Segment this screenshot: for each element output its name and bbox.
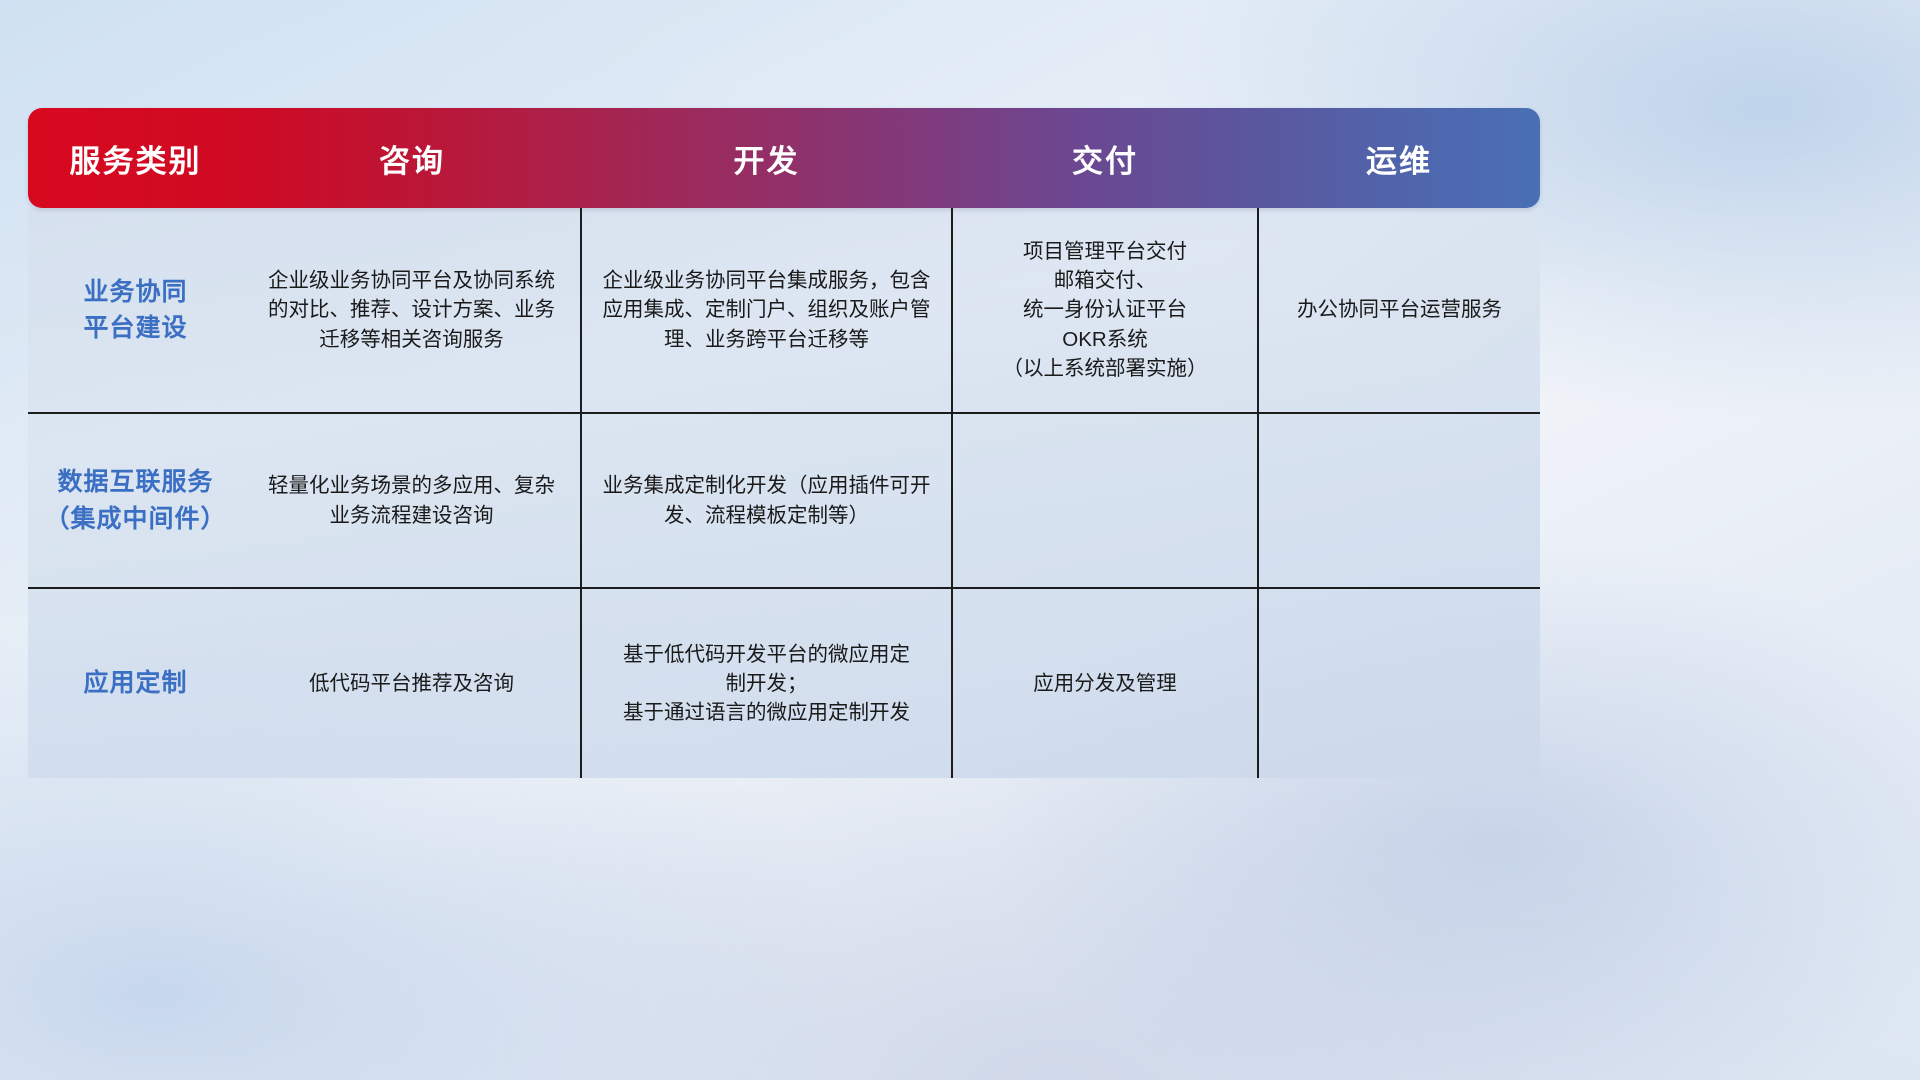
row-category-label: 业务协同 平台建设: [28, 208, 243, 413]
row-category-label: 数据互联服务 （集成中间件）: [28, 413, 243, 588]
cell-consulting: 企业级业务协同平台及协同系统的对比、推荐、设计方案、业务迁移等相关咨询服务: [243, 208, 581, 413]
cell-delivery: [952, 413, 1258, 588]
row-category-label: 应用定制: [28, 588, 243, 778]
cell-delivery-line: （以上系统部署实施）: [969, 354, 1241, 383]
cell-development-line: 制开发；: [598, 669, 935, 698]
cell-delivery-line: OKR系统: [969, 325, 1241, 354]
column-header-operations-label: 运维: [1258, 136, 1540, 181]
cell-development-line: 基于通过语言的微应用定制开发: [598, 698, 935, 727]
row-category-line: 应用定制: [44, 665, 227, 701]
service-category-table: 服务类别 咨询 开发 交付 运维 业务协同: [28, 108, 1540, 778]
cell-delivery-line: 邮箱交付、: [969, 266, 1241, 295]
cell-development: 业务集成定制化开发（应用插件可开发、流程模板定制等）: [581, 413, 952, 588]
row-category-line: 业务协同: [44, 274, 227, 310]
column-header-consulting: 咨询: [243, 108, 581, 208]
cell-operations: [1258, 413, 1540, 588]
table-body: 业务协同 平台建设 企业级业务协同平台及协同系统的对比、推荐、设计方案、业务迁移…: [28, 208, 1540, 778]
cell-development: 企业级业务协同平台集成服务，包含应用集成、定制门户、组织及账户管理、业务跨平台迁…: [581, 208, 952, 413]
row-category-line: （集成中间件）: [44, 501, 227, 537]
table-header: 服务类别 咨询 开发 交付 运维: [28, 108, 1540, 208]
cell-development: 基于低代码开发平台的微应用定 制开发； 基于通过语言的微应用定制开发: [581, 588, 952, 778]
table-row: 数据互联服务 （集成中间件） 轻量化业务场景的多应用、复杂业务流程建设咨询 业务…: [28, 413, 1540, 588]
cell-delivery: 项目管理平台交付 邮箱交付、 统一身份认证平台 OKR系统 （以上系统部署实施）: [952, 208, 1258, 413]
cell-consulting: 低代码平台推荐及咨询: [243, 588, 581, 778]
column-header-development-label: 开发: [581, 136, 952, 181]
cell-consulting: 轻量化业务场景的多应用、复杂业务流程建设咨询: [243, 413, 581, 588]
cell-operations: 办公协同平台运营服务: [1258, 208, 1540, 413]
column-header-consulting-label: 咨询: [243, 136, 581, 181]
cell-delivery-line: 统一身份认证平台: [969, 295, 1241, 324]
cell-operations: [1258, 588, 1540, 778]
row-category-line: 数据互联服务: [44, 464, 227, 500]
column-header-delivery: 交付: [952, 108, 1258, 208]
column-header-category: 服务类别: [28, 108, 243, 208]
cell-delivery: 应用分发及管理: [952, 588, 1258, 778]
table-row: 应用定制 低代码平台推荐及咨询 基于低代码开发平台的微应用定 制开发； 基于通过…: [28, 588, 1540, 778]
cell-delivery-line: 项目管理平台交付: [969, 237, 1241, 266]
row-category-line: 平台建设: [44, 310, 227, 346]
cell-development-line: 基于低代码开发平台的微应用定: [598, 640, 935, 669]
column-header-operations: 运维: [1258, 108, 1540, 208]
column-header-category-label: 服务类别: [28, 136, 243, 181]
column-header-delivery-label: 交付: [952, 136, 1258, 181]
service-category-table-container: 服务类别 咨询 开发 交付 运维 业务协同: [28, 108, 1540, 778]
table-header-row: 服务类别 咨询 开发 交付 运维: [28, 108, 1540, 208]
column-header-development: 开发: [581, 108, 952, 208]
table-row: 业务协同 平台建设 企业级业务协同平台及协同系统的对比、推荐、设计方案、业务迁移…: [28, 208, 1540, 413]
